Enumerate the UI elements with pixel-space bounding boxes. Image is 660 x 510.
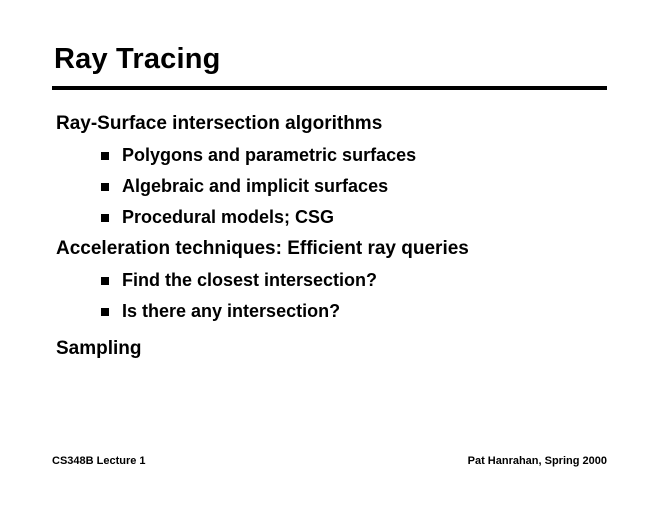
outline-item-label: Polygons and parametric surfaces: [122, 140, 416, 171]
outline-item-label: Find the closest intersection?: [122, 265, 377, 296]
outline-item-level1: Ray-Surface intersection algorithms: [56, 108, 660, 140]
page-title: Ray Tracing: [54, 42, 221, 76]
slide-footer: CS348B Lecture 1 Pat Hanrahan, Spring 20…: [52, 454, 607, 468]
outline-item-label: Procedural models; CSG: [122, 202, 334, 233]
square-bullet-icon: [101, 152, 109, 160]
slide-canvas: Ray Tracing Ray-Surface intersection alg…: [0, 0, 660, 510]
outline-item-level2: Algebraic and implicit surfaces: [101, 171, 660, 202]
slide-body: Ray-Surface intersection algorithms Poly…: [0, 108, 660, 365]
outline-item-level1: Acceleration techniques: Efficient ray q…: [56, 233, 660, 265]
outline-item-level2: Procedural models; CSG: [101, 202, 660, 233]
square-bullet-icon: [101, 214, 109, 222]
outline-item-level1: Sampling: [56, 333, 660, 365]
footer-author-label: Pat Hanrahan, Spring 2000: [468, 454, 607, 468]
outline-item-level2: Find the closest intersection?: [101, 265, 660, 296]
footer-lecture-label: CS348B Lecture 1: [52, 454, 146, 468]
outline-item-level2: Polygons and parametric surfaces: [101, 140, 660, 171]
outline-item-label: Is there any intersection?: [122, 296, 340, 327]
outline-item-label: Algebraic and implicit surfaces: [122, 171, 388, 202]
square-bullet-icon: [101, 183, 109, 191]
outline-item-level2: Is there any intersection?: [101, 296, 660, 327]
title-underline-rule: [52, 86, 607, 90]
square-bullet-icon: [101, 308, 109, 316]
square-bullet-icon: [101, 277, 109, 285]
